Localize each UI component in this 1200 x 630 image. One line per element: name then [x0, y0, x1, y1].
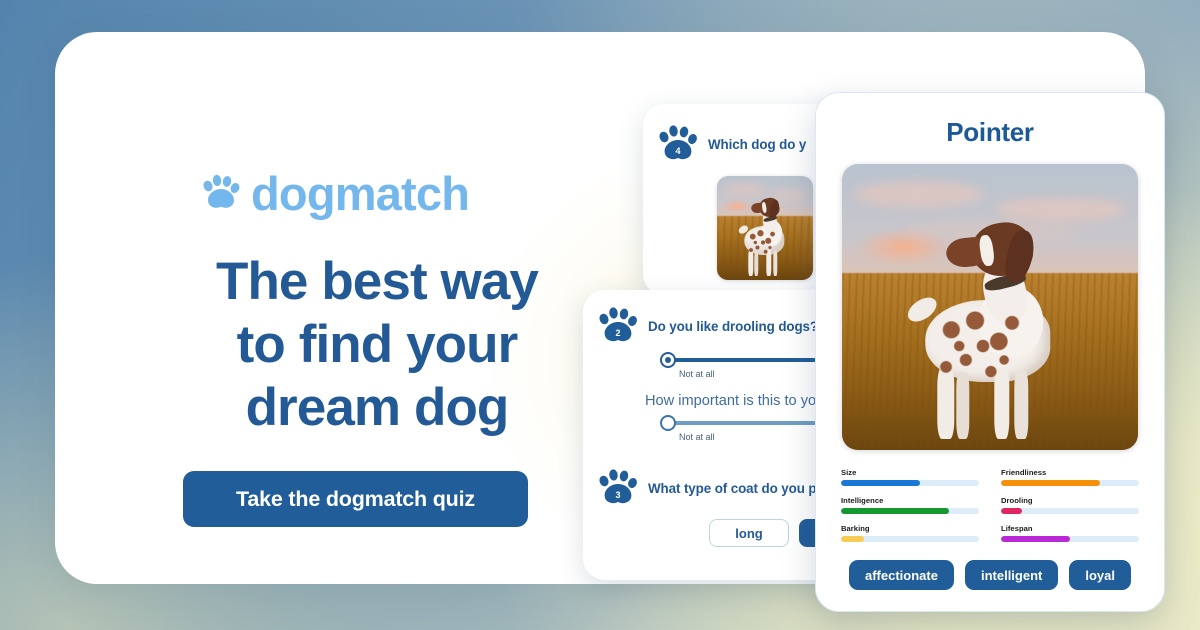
attribute-label: Barking	[841, 524, 979, 533]
attribute-track	[1001, 536, 1139, 542]
brand-name: dogmatch	[251, 170, 469, 217]
tag-intelligent[interactable]: intelligent	[965, 560, 1058, 590]
attribute-label: Friendliness	[1001, 468, 1139, 477]
paw-icon: 2	[597, 306, 639, 346]
attribute-fill	[841, 508, 949, 514]
paw-icon	[201, 174, 241, 212]
attribute-intelligence: Intelligence	[841, 496, 979, 514]
question-number-3: 3	[615, 490, 620, 500]
attribute-barking: Barking	[841, 524, 979, 542]
headline-line-3: dream dog	[246, 378, 509, 437]
breed-name: Pointer	[816, 117, 1164, 148]
headline-line-1: The best way	[216, 252, 538, 311]
attribute-label: Lifespan	[1001, 524, 1139, 533]
paw-icon: 4	[657, 124, 699, 164]
headline-line-2: to find your	[237, 315, 518, 374]
breed-attributes: Size Friendliness Intelligence Drooling …	[841, 468, 1139, 542]
attribute-label: Intelligence	[841, 496, 979, 505]
hero-left-column: dogmatch The best way to find your dream…	[201, 162, 601, 527]
take-quiz-button[interactable]: Take the dogmatch quiz	[183, 471, 528, 527]
slider-handle[interactable]	[660, 415, 676, 431]
attribute-friendliness: Friendliness	[1001, 468, 1139, 486]
breed-thumbnail[interactable]	[717, 176, 813, 280]
attribute-track	[1001, 508, 1139, 514]
attribute-fill	[841, 536, 864, 542]
question-number-2: 2	[615, 328, 620, 338]
brand-logo: dogmatch	[201, 162, 601, 224]
coat-option-long[interactable]: long	[709, 519, 789, 547]
question-text: Which dog do y	[708, 137, 806, 152]
attribute-label: Size	[841, 468, 979, 477]
attribute-drooling: Drooling	[1001, 496, 1139, 514]
question-number-4: 4	[675, 146, 680, 156]
attribute-fill	[1001, 480, 1100, 486]
breed-result-card[interactable]: Pointer Size	[815, 92, 1165, 612]
paw-icon: 3	[597, 468, 639, 508]
tag-loyal[interactable]: loyal	[1069, 560, 1131, 590]
tag-affectionate[interactable]: affectionate	[849, 560, 954, 590]
attribute-size: Size	[841, 468, 979, 486]
attribute-label: Drooling	[1001, 496, 1139, 505]
question-text: Do you like drooling dogs?	[648, 319, 818, 334]
attribute-fill	[1001, 508, 1022, 514]
attribute-track	[841, 508, 979, 514]
hero-card: dogmatch The best way to find your dream…	[55, 32, 1145, 584]
attribute-track	[841, 536, 979, 542]
attribute-track	[1001, 480, 1139, 486]
breed-tags: affectionate intelligent loyal	[816, 560, 1164, 590]
attribute-fill	[1001, 536, 1070, 542]
breed-photo	[842, 164, 1138, 450]
slider-handle[interactable]	[660, 352, 676, 368]
attribute-fill	[841, 480, 920, 486]
question-text: What type of coat do you p	[648, 481, 817, 496]
page-title: The best way to find your dream dog	[201, 250, 553, 439]
attribute-track	[841, 480, 979, 486]
attribute-lifespan: Lifespan	[1001, 524, 1139, 542]
